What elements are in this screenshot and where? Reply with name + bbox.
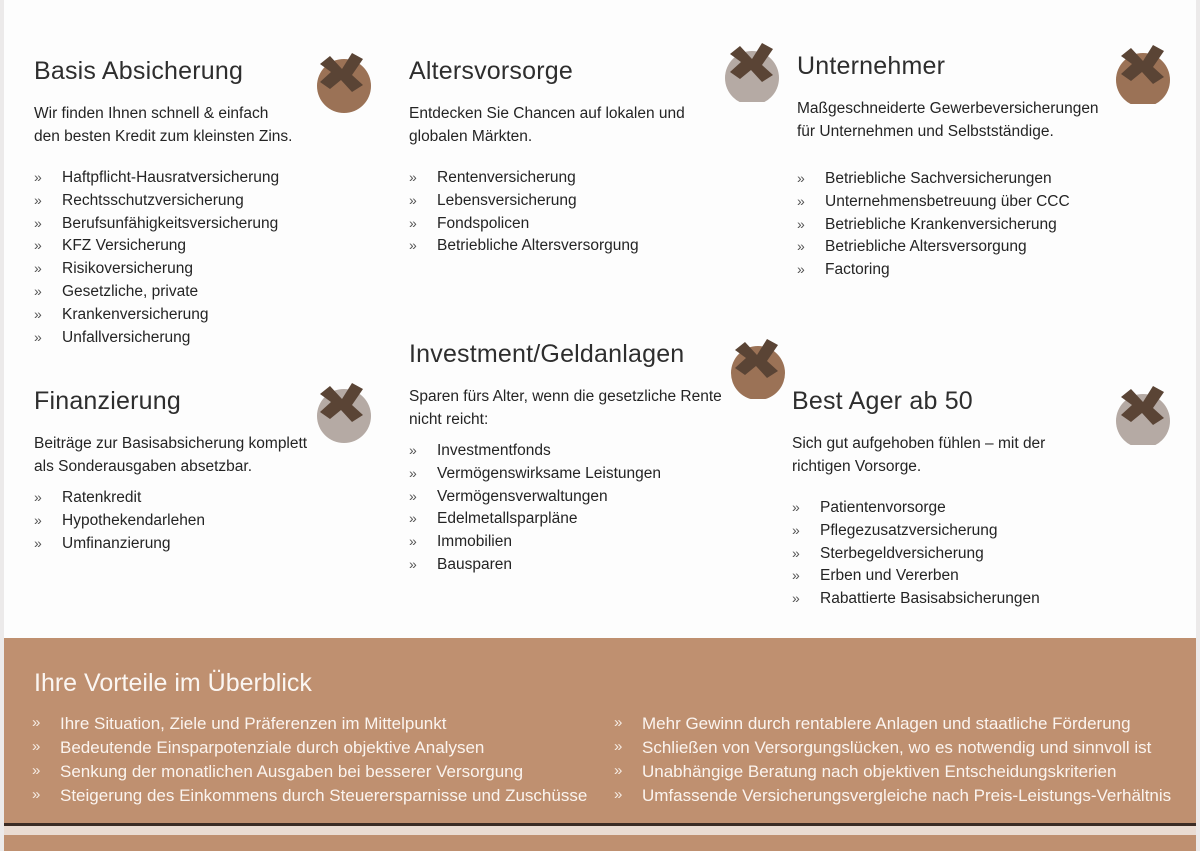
list-item[interactable]: »Investmentfonds <box>409 440 789 463</box>
chevron-icon: » <box>32 712 40 733</box>
list-item[interactable]: »Bausparen <box>409 554 789 577</box>
chevron-icon: » <box>614 760 622 781</box>
description-line: Sich gut aufgehoben fühlen – mit der <box>792 435 1045 452</box>
list-item[interactable]: »Unternehmensbetreuung über CCC <box>797 191 1157 214</box>
description-line: nicht reicht: <box>409 411 488 428</box>
list-item[interactable]: »Bedeutende Einsparpotenziale durch obje… <box>32 736 587 760</box>
banner-column-left: »Ihre Situation, Ziele und Präferenzen i… <box>32 712 587 808</box>
chevron-icon: » <box>409 440 417 461</box>
list-item[interactable]: »Unabhängige Beratung nach objektiven En… <box>614 760 1171 784</box>
list-item-label: Ratenkredit <box>62 489 141 506</box>
balloon-badge-icon <box>306 372 378 444</box>
list-item[interactable]: »Patientenvorsorge <box>792 497 1172 520</box>
list-item[interactable]: »Betriebliche Altersversorgung <box>797 236 1157 259</box>
list-item[interactable]: »Mehr Gewinn durch rentablere Anlagen un… <box>614 712 1171 736</box>
list-item-label: Investmentfonds <box>437 442 551 459</box>
list-item-label: Bausparen <box>437 556 512 573</box>
section-altersvorsorge: Altersvorsorge Entdecken Sie Chancen auf… <box>409 57 739 258</box>
list-item[interactable]: »Betriebliche Krankenversicherung <box>797 214 1157 237</box>
list-item-label: Ihre Situation, Ziele und Präferenzen im… <box>60 714 446 733</box>
list-item-label: Haftpflicht-Hausratversicherung <box>62 169 279 186</box>
list-item-label: Umfassende Versicherungsvergleiche nach … <box>642 786 1171 805</box>
list-item-label: Edelmetallsparpläne <box>437 510 577 527</box>
chevron-icon: » <box>409 463 417 484</box>
balloon-badge-icon <box>1109 32 1181 104</box>
list-item[interactable]: »Edelmetallsparpläne <box>409 508 789 531</box>
chevron-icon: » <box>34 327 42 348</box>
section-title: Altersvorsorge <box>409 57 739 86</box>
list-item[interactable]: »Schließen von Versorgungslücken, wo es … <box>614 736 1171 760</box>
description-line: richtigen Vorsorge. <box>792 458 921 475</box>
list-item-label: Factoring <box>825 261 890 278</box>
chevron-icon: » <box>32 736 40 757</box>
balloon-badge-icon <box>1109 373 1181 445</box>
list-item-label: Hypothekendarlehen <box>62 512 205 529</box>
chevron-icon: » <box>409 486 417 507</box>
list-item-label: Schließen von Versorgungslücken, wo es n… <box>642 738 1151 757</box>
chevron-icon: » <box>409 167 417 188</box>
description-line: als Sonderausgaben absetzbar. <box>34 458 252 475</box>
section-description: Maßgeschneiderte Gewerbeversicherungen f… <box>797 98 1157 144</box>
chevron-icon: » <box>32 760 40 781</box>
chevron-icon: » <box>792 520 800 541</box>
list-item-label: Steigerung des Einkommens durch Steuerer… <box>60 786 587 805</box>
list-item[interactable]: »Sterbegeldversicherung <box>792 543 1172 566</box>
list-item[interactable]: »Ratenkredit <box>34 487 374 510</box>
chevron-icon: » <box>409 190 417 211</box>
list-item-label: Vermögenswirksame Leistungen <box>437 465 661 482</box>
list-item[interactable]: »Vermögenswirksame Leistungen <box>409 463 789 486</box>
list-item[interactable]: »Hypothekendarlehen <box>34 510 374 533</box>
list-item[interactable]: »Rechtsschutzversicherung <box>34 190 374 213</box>
chevron-icon: » <box>409 554 417 575</box>
description-line: den besten Kredit zum kleinsten Zins. <box>34 128 292 145</box>
list-item[interactable]: »Risikoversicherung <box>34 258 374 281</box>
description-line: Maßgeschneiderte Gewerbeversicherungen <box>797 100 1099 117</box>
list-item-label: Mehr Gewinn durch rentablere Anlagen und… <box>642 714 1131 733</box>
banner-list: »Mehr Gewinn durch rentablere Anlagen un… <box>614 712 1171 808</box>
chevron-icon: » <box>409 235 417 256</box>
balloon-badge-icon <box>718 30 790 102</box>
list-item-label: Betriebliche Sachversicherungen <box>825 170 1052 187</box>
chevron-icon: » <box>34 258 42 279</box>
section-description: Entdecken Sie Chancen auf lokalen und gl… <box>409 103 739 149</box>
list-item-label: Unternehmensbetreuung über CCC <box>825 193 1070 210</box>
list-item[interactable]: »Haftpflicht-Hausratversicherung <box>34 167 374 190</box>
chevron-icon: » <box>797 236 805 257</box>
chevron-icon: » <box>34 235 42 256</box>
list-item[interactable]: »Senkung der monatlichen Ausgaben bei be… <box>32 760 587 784</box>
list-item-label: Vermögensverwaltungen <box>437 488 608 505</box>
list-item[interactable]: »Betriebliche Sachversicherungen <box>797 168 1157 191</box>
list-item-label: Immobilien <box>437 533 512 550</box>
list-item-label: Betriebliche Altersversorgung <box>825 238 1027 255</box>
list-item[interactable]: »Betriebliche Altersversorgung <box>409 235 739 258</box>
chevron-icon: » <box>792 565 800 586</box>
list-item-label: Betriebliche Altersversorgung <box>437 237 639 254</box>
description-line: für Unternehmen und Selbstständige. <box>797 123 1054 140</box>
list-item-label: Risikoversicherung <box>62 260 193 277</box>
chevron-icon: » <box>34 167 42 188</box>
section-list: »Rentenversicherung »Lebensversicherung … <box>409 167 739 259</box>
list-item[interactable]: »Rabattierte Basisabsicherungen <box>792 588 1172 611</box>
banner-list: »Ihre Situation, Ziele und Präferenzen i… <box>32 712 587 808</box>
chevron-icon: » <box>32 784 40 805</box>
chevron-icon: » <box>34 533 42 554</box>
chevron-icon: » <box>792 588 800 609</box>
banner-column-right: »Mehr Gewinn durch rentablere Anlagen un… <box>614 712 1171 808</box>
list-item[interactable]: »Rentenversicherung <box>409 167 739 190</box>
section-list: »Betriebliche Sachversicherungen »Untern… <box>797 168 1157 283</box>
list-item[interactable]: »Fondspolicen <box>409 213 739 236</box>
list-item-label: Unfallversicherung <box>62 329 190 346</box>
chevron-icon: » <box>409 531 417 552</box>
chevron-icon: » <box>614 736 622 757</box>
chevron-icon: » <box>34 510 42 531</box>
section-list: »Ratenkredit »Hypothekendarlehen »Umfina… <box>34 487 374 556</box>
section-list: »Investmentfonds »Vermögenswirksame Leis… <box>409 440 789 578</box>
chevron-icon: » <box>614 784 622 805</box>
list-item[interactable]: »Lebensversicherung <box>409 190 739 213</box>
banner-footer-strip <box>4 835 1200 851</box>
chevron-icon: » <box>409 508 417 529</box>
list-item[interactable]: »Ihre Situation, Ziele und Präferenzen i… <box>32 712 587 736</box>
chevron-icon: » <box>792 497 800 518</box>
list-item-label: Sterbegeldversicherung <box>820 545 984 562</box>
chevron-icon: » <box>792 543 800 564</box>
list-item-label: Senkung der monatlichen Ausgaben bei bes… <box>60 762 523 781</box>
list-item-label: Berufsunfähigkeitsversicherung <box>62 215 278 232</box>
list-item[interactable]: »Steigerung des Einkommens durch Steuere… <box>32 784 587 808</box>
list-item-label: Unabhängige Beratung nach objektiven Ent… <box>642 762 1116 781</box>
list-item[interactable]: »Vermögensverwaltungen <box>409 486 789 509</box>
list-item-label: Krankenversicherung <box>62 306 208 323</box>
chevron-icon: » <box>797 191 805 212</box>
chevron-icon: » <box>34 487 42 508</box>
list-item-label: Rentenversicherung <box>437 169 576 186</box>
chevron-icon: » <box>34 281 42 302</box>
list-item-label: Bedeutende Einsparpotenziale durch objek… <box>60 738 484 757</box>
list-item-label: Lebensversicherung <box>437 192 577 209</box>
section-list: »Haftpflicht-Hausratversicherung »Rechts… <box>34 167 374 351</box>
list-item-label: KFZ Versicherung <box>62 237 186 254</box>
list-item[interactable]: »Gesetzliche, private <box>34 281 374 304</box>
description-line: Beiträge zur Basisabsicherung komplett <box>34 435 307 452</box>
list-item-label: Fondspolicen <box>437 215 529 232</box>
list-item[interactable]: »Factoring <box>797 259 1157 282</box>
section-title: Unternehmer <box>797 52 1157 81</box>
list-item[interactable]: »Erben und Vererben <box>792 565 1172 588</box>
list-item[interactable]: »Unfallversicherung <box>34 327 374 350</box>
list-item[interactable]: »Krankenversicherung <box>34 304 374 327</box>
list-item-label: Erben und Vererben <box>820 567 959 584</box>
description-line: Wir finden Ihnen schnell & einfach <box>34 105 268 122</box>
list-item[interactable]: »KFZ Versicherung <box>34 235 374 258</box>
chevron-icon: » <box>797 214 805 235</box>
section-list: »Patientenvorsorge »Pflegezusatzversiche… <box>792 497 1172 612</box>
balloon-badge-icon <box>722 327 794 399</box>
list-item[interactable]: »Umfassende Versicherungsvergleiche nach… <box>614 784 1171 808</box>
description-line: globalen Märkten. <box>409 128 532 145</box>
list-item[interactable]: »Pflegezusatzversicherung <box>792 520 1172 543</box>
banner-title: Ihre Vorteile im Überblick <box>34 669 312 698</box>
list-item-label: Rechtsschutzversicherung <box>62 192 244 209</box>
chevron-icon: » <box>34 190 42 211</box>
banner-divider-light <box>4 826 1200 835</box>
chevron-icon: » <box>34 304 42 325</box>
chevron-icon: » <box>797 168 805 189</box>
list-item-label: Rabattierte Basisabsicherungen <box>820 590 1040 607</box>
balloon-badge-icon <box>306 42 378 114</box>
list-item[interactable]: »Immobilien <box>409 531 789 554</box>
chevron-icon: » <box>614 712 622 733</box>
list-item[interactable]: »Umfinanzierung <box>34 533 374 556</box>
benefits-banner: Ihre Vorteile im Überblick »Ihre Situati… <box>4 638 1200 823</box>
list-item-label: Pflegezusatzversicherung <box>820 522 998 539</box>
list-item-label: Umfinanzierung <box>62 535 171 552</box>
chevron-icon: » <box>409 213 417 234</box>
chevron-icon: » <box>34 213 42 234</box>
description-line: Sparen fürs Alter, wenn die gesetzliche … <box>409 388 722 405</box>
list-item-label: Gesetzliche, private <box>62 283 198 300</box>
brochure-page: Basis Absicherung Wir finden Ihnen schne… <box>0 0 1200 851</box>
list-item-label: Betriebliche Krankenversicherung <box>825 216 1057 233</box>
list-item-label: Patientenvorsorge <box>820 499 946 516</box>
description-line: Entdecken Sie Chancen auf lokalen und <box>409 105 685 122</box>
chevron-icon: » <box>797 259 805 280</box>
section-unternehmer: Unternehmer Maßgeschneiderte Gewerbevers… <box>797 52 1157 282</box>
list-item[interactable]: »Berufsunfähigkeitsversicherung <box>34 213 374 236</box>
